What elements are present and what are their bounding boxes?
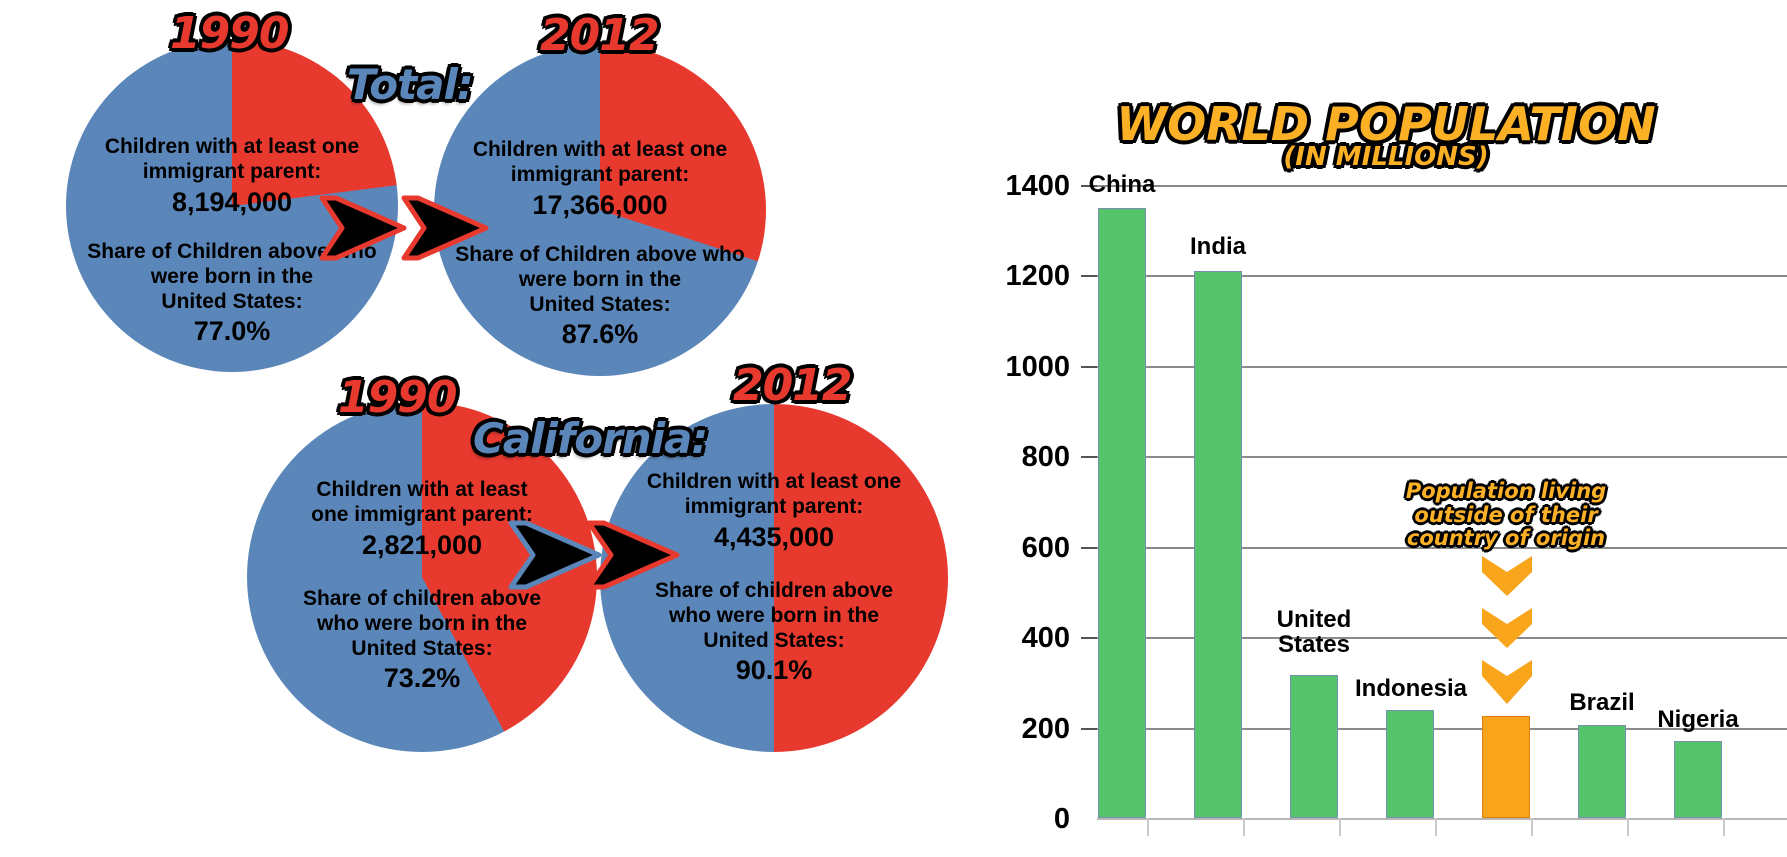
transition-arrow-total-1	[318, 192, 408, 264]
annotation-population-outside-origin: Population living outside of their count…	[1374, 480, 1638, 551]
bar-label-india: India	[1157, 234, 1279, 259]
bar-label-united-states: United States	[1253, 607, 1375, 657]
world-population-bar-chart: WORLD POPULATION (IN MILLIONS) 1400 1200…	[985, 0, 1787, 857]
year-label-california-1990: 1990	[338, 372, 456, 423]
x-tick-sep	[1531, 818, 1533, 836]
bar-label-line-2: States	[1253, 632, 1375, 657]
annotation-chevron-1-icon	[1480, 552, 1534, 600]
x-tick-sep	[1243, 818, 1245, 836]
tick-mark-600	[1081, 547, 1097, 549]
x-tick-sep	[1627, 818, 1629, 836]
tick-mark-1200	[1081, 275, 1097, 277]
annotation-line-2: outside of their	[1374, 504, 1638, 528]
ytick-200: 200	[985, 713, 1070, 746]
bar-label-nigeria: Nigeria	[1637, 707, 1759, 732]
section-label-total: Total:	[347, 60, 473, 109]
section-label-california: California:	[473, 414, 707, 463]
ytick-600: 600	[985, 532, 1070, 565]
x-axis-baseline	[1097, 818, 1787, 820]
tick-mark-400	[1081, 637, 1097, 639]
bar-nigeria	[1674, 741, 1722, 818]
annotation-line-1: Population living	[1374, 480, 1638, 504]
bar-label-china: China	[1061, 172, 1183, 197]
tick-mark-800	[1081, 456, 1097, 458]
annotation-chevron-3-icon	[1480, 656, 1534, 708]
bar-population-outside-origin	[1482, 716, 1530, 818]
transition-arrow-total-2	[400, 192, 490, 264]
annotation-line-3: country of origin	[1374, 527, 1638, 551]
ytick-800: 800	[985, 441, 1070, 474]
year-label-total-1990: 1990	[170, 8, 288, 59]
x-tick-sep	[1339, 818, 1341, 836]
bar-united-states	[1290, 675, 1338, 818]
x-tick-sep	[1723, 818, 1725, 836]
tick-mark-200	[1081, 728, 1097, 730]
x-tick-sep	[1147, 818, 1149, 836]
ytick-400: 400	[985, 622, 1070, 655]
bar-brazil	[1578, 725, 1626, 818]
tick-mark-1000	[1081, 366, 1097, 368]
ytick-0: 0	[985, 803, 1070, 836]
bar-label-line-1: United	[1253, 607, 1375, 632]
ytick-1000: 1000	[985, 351, 1070, 384]
transition-arrow-california-2	[585, 517, 681, 593]
year-label-total-2012: 2012	[540, 10, 658, 61]
ytick-1200: 1200	[985, 260, 1070, 293]
year-label-california-2012: 2012	[733, 360, 851, 411]
plot-area: 1400 1200 1000 800 600 400 200 0	[985, 0, 1787, 857]
bar-china	[1098, 208, 1146, 818]
annotation-chevron-2-icon	[1480, 604, 1534, 652]
bar-india	[1194, 271, 1242, 818]
ytick-1400: 1400	[985, 170, 1070, 203]
x-tick-sep	[1435, 818, 1437, 836]
bar-label-indonesia: Indonesia	[1343, 676, 1479, 701]
gridline-1400	[1097, 185, 1787, 187]
bar-indonesia	[1386, 710, 1434, 818]
